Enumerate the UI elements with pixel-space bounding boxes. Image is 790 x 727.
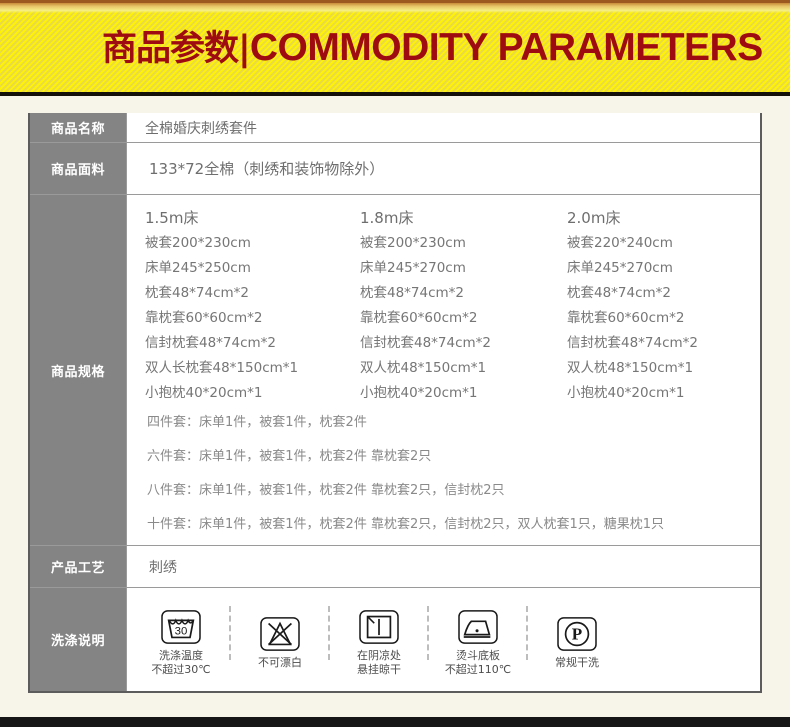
wash-caption-line1: 烫斗底板	[445, 649, 511, 663]
page-title-english: COMMODITY PARAMETERS	[250, 26, 763, 69]
table-row-fabric: 商品面料 133*72全棉（刺绣和装饰物除外）	[30, 143, 760, 195]
page-title-separator: |	[238, 29, 250, 69]
set-composition-list: 四件套：床单1件，被套1件，枕套2件 六件套：床单1件，被套1件，枕套2件 靠枕…	[127, 406, 760, 533]
banner-top-gradient	[0, 3, 790, 13]
wash-caption-line1: 常规干洗	[555, 656, 599, 670]
no-bleach-icon	[259, 615, 301, 653]
spec-line: 枕套48*74cm*2	[360, 281, 567, 306]
wash-divider	[229, 606, 232, 660]
table-row-wash-care: 洗涤说明 30 洗涤温度 不超过30℃	[30, 588, 760, 693]
wash-caption-line2: 不超过110℃	[445, 663, 511, 677]
table-row-specifications: 商品规格 1.5m床 被套200*230cm 床单245*250cm 枕套48*…	[30, 195, 760, 546]
wash-caption: 在阴凉处 悬挂晾干	[357, 649, 401, 677]
spec-line: 枕套48*74cm*2	[567, 281, 757, 306]
spec-line: 被套200*230cm	[145, 231, 360, 256]
spec-line: 双人枕48*150cm*1	[360, 356, 567, 381]
spec-line: 枕套48*74cm*2	[145, 281, 360, 306]
wash-caption-line1: 不可漂白	[258, 656, 302, 670]
wash-divider	[427, 606, 430, 660]
wash-item-dry-clean: P 常规干洗	[533, 609, 621, 670]
spec-column-1-8m: 1.8m床 被套200*230cm 床单245*270cm 枕套48*74cm*…	[360, 207, 567, 406]
label-specifications: 商品规格	[30, 195, 127, 545]
wash-divider	[526, 606, 529, 660]
wash-caption: 常规干洗	[555, 656, 599, 670]
wash-caption-line2: 悬挂晾干	[357, 663, 401, 677]
spec-line: 双人长枕套48*150cm*1	[145, 356, 360, 381]
spec-line: 靠枕套60*60cm*2	[360, 306, 567, 331]
spec-line: 信封枕套48*74cm*2	[145, 331, 360, 356]
spec-line: 小抱枕40*20cm*1	[145, 381, 360, 406]
label-product-name: 商品名称	[30, 113, 127, 142]
wash-divider	[328, 606, 331, 660]
page-banner: 商品参数|COMMODITY PARAMETERS	[0, 0, 790, 96]
table-row-product-name: 商品名称 全棉婚庆刺绣套件	[30, 113, 760, 143]
value-craft: 刺绣	[127, 546, 760, 587]
wash-caption-line1: 在阴凉处	[357, 649, 401, 663]
wash-tub-30-icon: 30	[160, 608, 202, 646]
spec-heading: 2.0m床	[567, 207, 757, 229]
commodity-parameters-table: 商品名称 全棉婚庆刺绣套件 商品面料 133*72全棉（刺绣和装饰物除外） 商品…	[28, 113, 762, 693]
wash-item-iron: 烫斗底板 不超过110℃	[434, 602, 522, 677]
spec-line: 信封枕套48*74cm*2	[360, 331, 567, 356]
label-wash-care: 洗涤说明	[30, 588, 127, 691]
spec-line: 小抱枕40*20cm*1	[360, 381, 567, 406]
specifications-body: 1.5m床 被套200*230cm 床单245*250cm 枕套48*74cm*…	[127, 195, 760, 545]
spec-line: 床单245*250cm	[145, 256, 360, 281]
wash-caption: 洗涤温度 不超过30℃	[151, 649, 210, 677]
spec-line: 双人枕48*150cm*1	[567, 356, 757, 381]
specifications-columns: 1.5m床 被套200*230cm 床单245*250cm 枕套48*74cm*…	[127, 207, 760, 406]
wash-temp-number: 30	[175, 626, 188, 638]
spec-line: 床单245*270cm	[567, 256, 757, 281]
drip-dry-shade-icon	[358, 608, 400, 646]
page-title-chinese: 商品参数	[102, 29, 238, 69]
spec-line: 床单245*270cm	[360, 256, 567, 281]
wash-care-icons: 30 洗涤温度 不超过30℃ 不可漂白	[127, 588, 760, 691]
wash-caption: 烫斗底板 不超过110℃	[445, 649, 511, 677]
iron-low-heat-icon	[457, 608, 499, 646]
label-fabric: 商品面料	[30, 143, 127, 194]
value-product-name: 全棉婚庆刺绣套件	[127, 113, 760, 142]
set-line-8pc: 八件套：床单1件，被套1件，枕套2件 靠枕套2只，信封枕2只	[147, 482, 760, 499]
set-line-6pc: 六件套：床单1件，被套1件，枕套2件 靠枕套2只	[147, 448, 760, 465]
spec-column-1-5m: 1.5m床 被套200*230cm 床单245*250cm 枕套48*74cm*…	[145, 207, 360, 406]
spec-heading: 1.5m床	[145, 207, 360, 229]
label-craft: 产品工艺	[30, 546, 127, 587]
wash-caption: 不可漂白	[258, 656, 302, 670]
spec-line: 靠枕套60*60cm*2	[145, 306, 360, 331]
wash-item-temperature: 30 洗涤温度 不超过30℃	[137, 602, 225, 677]
table-row-craft: 产品工艺 刺绣	[30, 546, 760, 588]
dry-clean-p-icon: P	[556, 615, 598, 653]
value-fabric: 133*72全棉（刺绣和装饰物除外）	[127, 143, 760, 194]
spec-line: 小抱枕40*20cm*1	[567, 381, 757, 406]
spec-line: 被套200*230cm	[360, 231, 567, 256]
set-line-10pc: 十件套：床单1件，被套1件，枕套2件 靠枕套2只，信封枕2只，双人枕套1只，糖果…	[147, 516, 760, 533]
wash-item-no-bleach: 不可漂白	[236, 609, 324, 670]
spec-column-2-0m: 2.0m床 被套220*240cm 床单245*270cm 枕套48*74cm*…	[567, 207, 757, 406]
spec-line: 信封枕套48*74cm*2	[567, 331, 757, 356]
page-title: 商品参数|COMMODITY PARAMETERS	[102, 28, 763, 67]
wash-item-drip-dry: 在阴凉处 悬挂晾干	[335, 602, 423, 677]
wash-caption-line2: 不超过30℃	[151, 663, 210, 677]
set-line-4pc: 四件套：床单1件，被套1件，枕套2件	[147, 414, 760, 431]
spec-line: 靠枕套60*60cm*2	[567, 306, 757, 331]
spec-heading: 1.8m床	[360, 207, 567, 229]
dry-clean-letter: P	[572, 625, 582, 644]
bottom-edge-strip	[0, 717, 790, 727]
spec-line: 被套220*240cm	[567, 231, 757, 256]
wash-caption-line1: 洗涤温度	[151, 649, 210, 663]
